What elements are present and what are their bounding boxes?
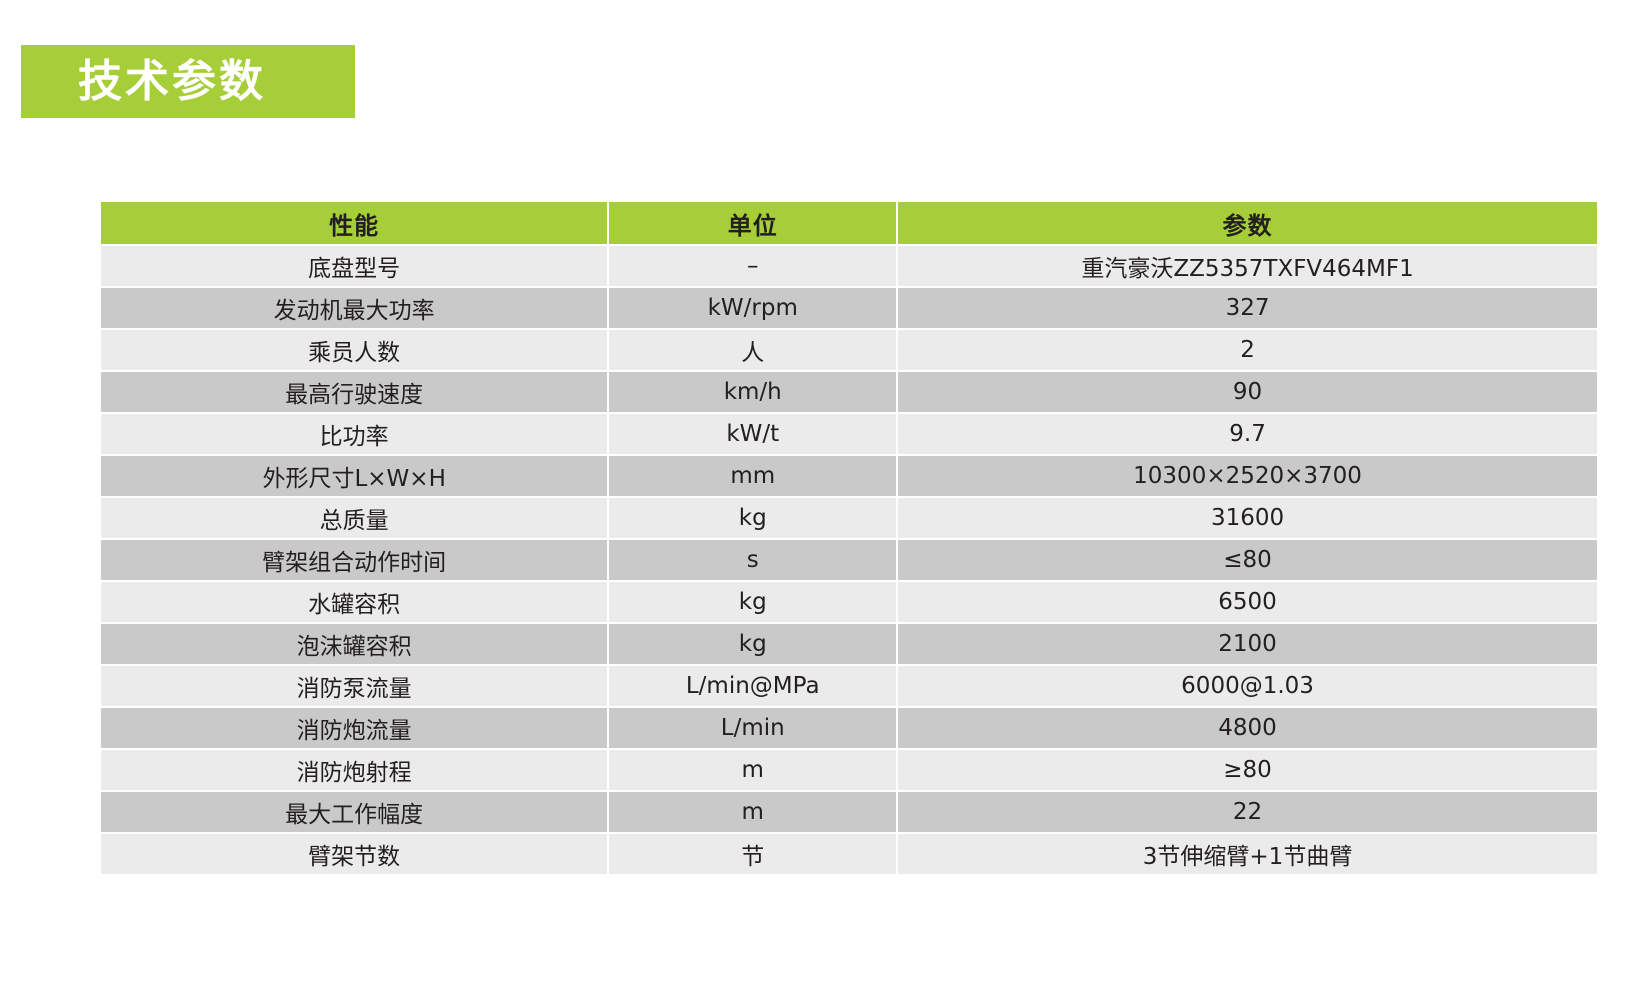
cell-unit: kW/t [609,414,896,454]
table-row: 总质量kg31600 [101,498,1597,538]
table-row: 消防泵流量L/min@MPa6000@1.03 [101,666,1597,706]
cell-parameter: 重汽豪沃ZZ5357TXFV464MF1 [898,246,1597,286]
table-body: 底盘型号–重汽豪沃ZZ5357TXFV464MF1发动机最大功率kW/rpm32… [101,246,1597,874]
table-row: 消防炮流量L/min4800 [101,708,1597,748]
cell-parameter: ≤80 [898,540,1597,580]
cell-performance: 比功率 [101,414,607,454]
cell-parameter: 2 [898,330,1597,370]
column-header-unit: 单位 [609,202,896,244]
cell-unit: m [609,750,896,790]
cell-performance: 总质量 [101,498,607,538]
page-title-banner: 技术参数 [21,45,355,118]
cell-parameter: 2100 [898,624,1597,664]
cell-unit: kW/rpm [609,288,896,328]
cell-performance: 消防炮流量 [101,708,607,748]
cell-parameter: 327 [898,288,1597,328]
cell-unit: 节 [609,834,896,874]
cell-unit: kg [609,582,896,622]
cell-unit: kg [609,624,896,664]
cell-parameter: 22 [898,792,1597,832]
cell-unit: m [609,792,896,832]
table-row: 底盘型号–重汽豪沃ZZ5357TXFV464MF1 [101,246,1597,286]
cell-parameter: 9.7 [898,414,1597,454]
cell-performance: 最高行驶速度 [101,372,607,412]
spec-sheet-page: 技术参数 性能 单位 参数 底盘型号–重汽豪沃ZZ5357TXFV464MF1发… [0,0,1637,1000]
table-row: 臂架组合动作时间s≤80 [101,540,1597,580]
cell-parameter: 6000@1.03 [898,666,1597,706]
table-row: 最高行驶速度km/h90 [101,372,1597,412]
cell-unit: – [609,246,896,286]
cell-performance: 水罐容积 [101,582,607,622]
table-row: 比功率kW/t9.7 [101,414,1597,454]
table-row: 乘员人数人2 [101,330,1597,370]
cell-parameter: 90 [898,372,1597,412]
cell-parameter: 6500 [898,582,1597,622]
column-header-parameter: 参数 [898,202,1597,244]
cell-unit: kg [609,498,896,538]
cell-parameter: ≥80 [898,750,1597,790]
cell-unit: 人 [609,330,896,370]
cell-unit: L/min@MPa [609,666,896,706]
cell-performance: 乘员人数 [101,330,607,370]
table-row: 发动机最大功率kW/rpm327 [101,288,1597,328]
cell-parameter: 10300×2520×3700 [898,456,1597,496]
table-row: 臂架节数节3节伸缩臂+1节曲臂 [101,834,1597,874]
cell-unit: L/min [609,708,896,748]
table-header-row: 性能 单位 参数 [101,202,1597,244]
table-row: 水罐容积kg6500 [101,582,1597,622]
cell-parameter: 31600 [898,498,1597,538]
cell-performance: 底盘型号 [101,246,607,286]
page-title: 技术参数 [21,60,266,104]
cell-performance: 臂架节数 [101,834,607,874]
cell-unit: km/h [609,372,896,412]
cell-performance: 发动机最大功率 [101,288,607,328]
cell-performance: 臂架组合动作时间 [101,540,607,580]
table-header: 性能 单位 参数 [101,202,1597,244]
table-row: 消防炮射程m≥80 [101,750,1597,790]
cell-performance: 消防泵流量 [101,666,607,706]
cell-performance: 消防炮射程 [101,750,607,790]
cell-performance: 泡沫罐容积 [101,624,607,664]
cell-parameter: 3节伸缩臂+1节曲臂 [898,834,1597,874]
cell-unit: s [609,540,896,580]
technical-parameters-table: 性能 单位 参数 底盘型号–重汽豪沃ZZ5357TXFV464MF1发动机最大功… [99,200,1599,876]
table-row: 外形尺寸L×W×Hmm10300×2520×3700 [101,456,1597,496]
table-row: 泡沫罐容积kg2100 [101,624,1597,664]
table-row: 最大工作幅度m22 [101,792,1597,832]
cell-performance: 最大工作幅度 [101,792,607,832]
cell-parameter: 4800 [898,708,1597,748]
column-header-performance: 性能 [101,202,607,244]
cell-unit: mm [609,456,896,496]
cell-performance: 外形尺寸L×W×H [101,456,607,496]
